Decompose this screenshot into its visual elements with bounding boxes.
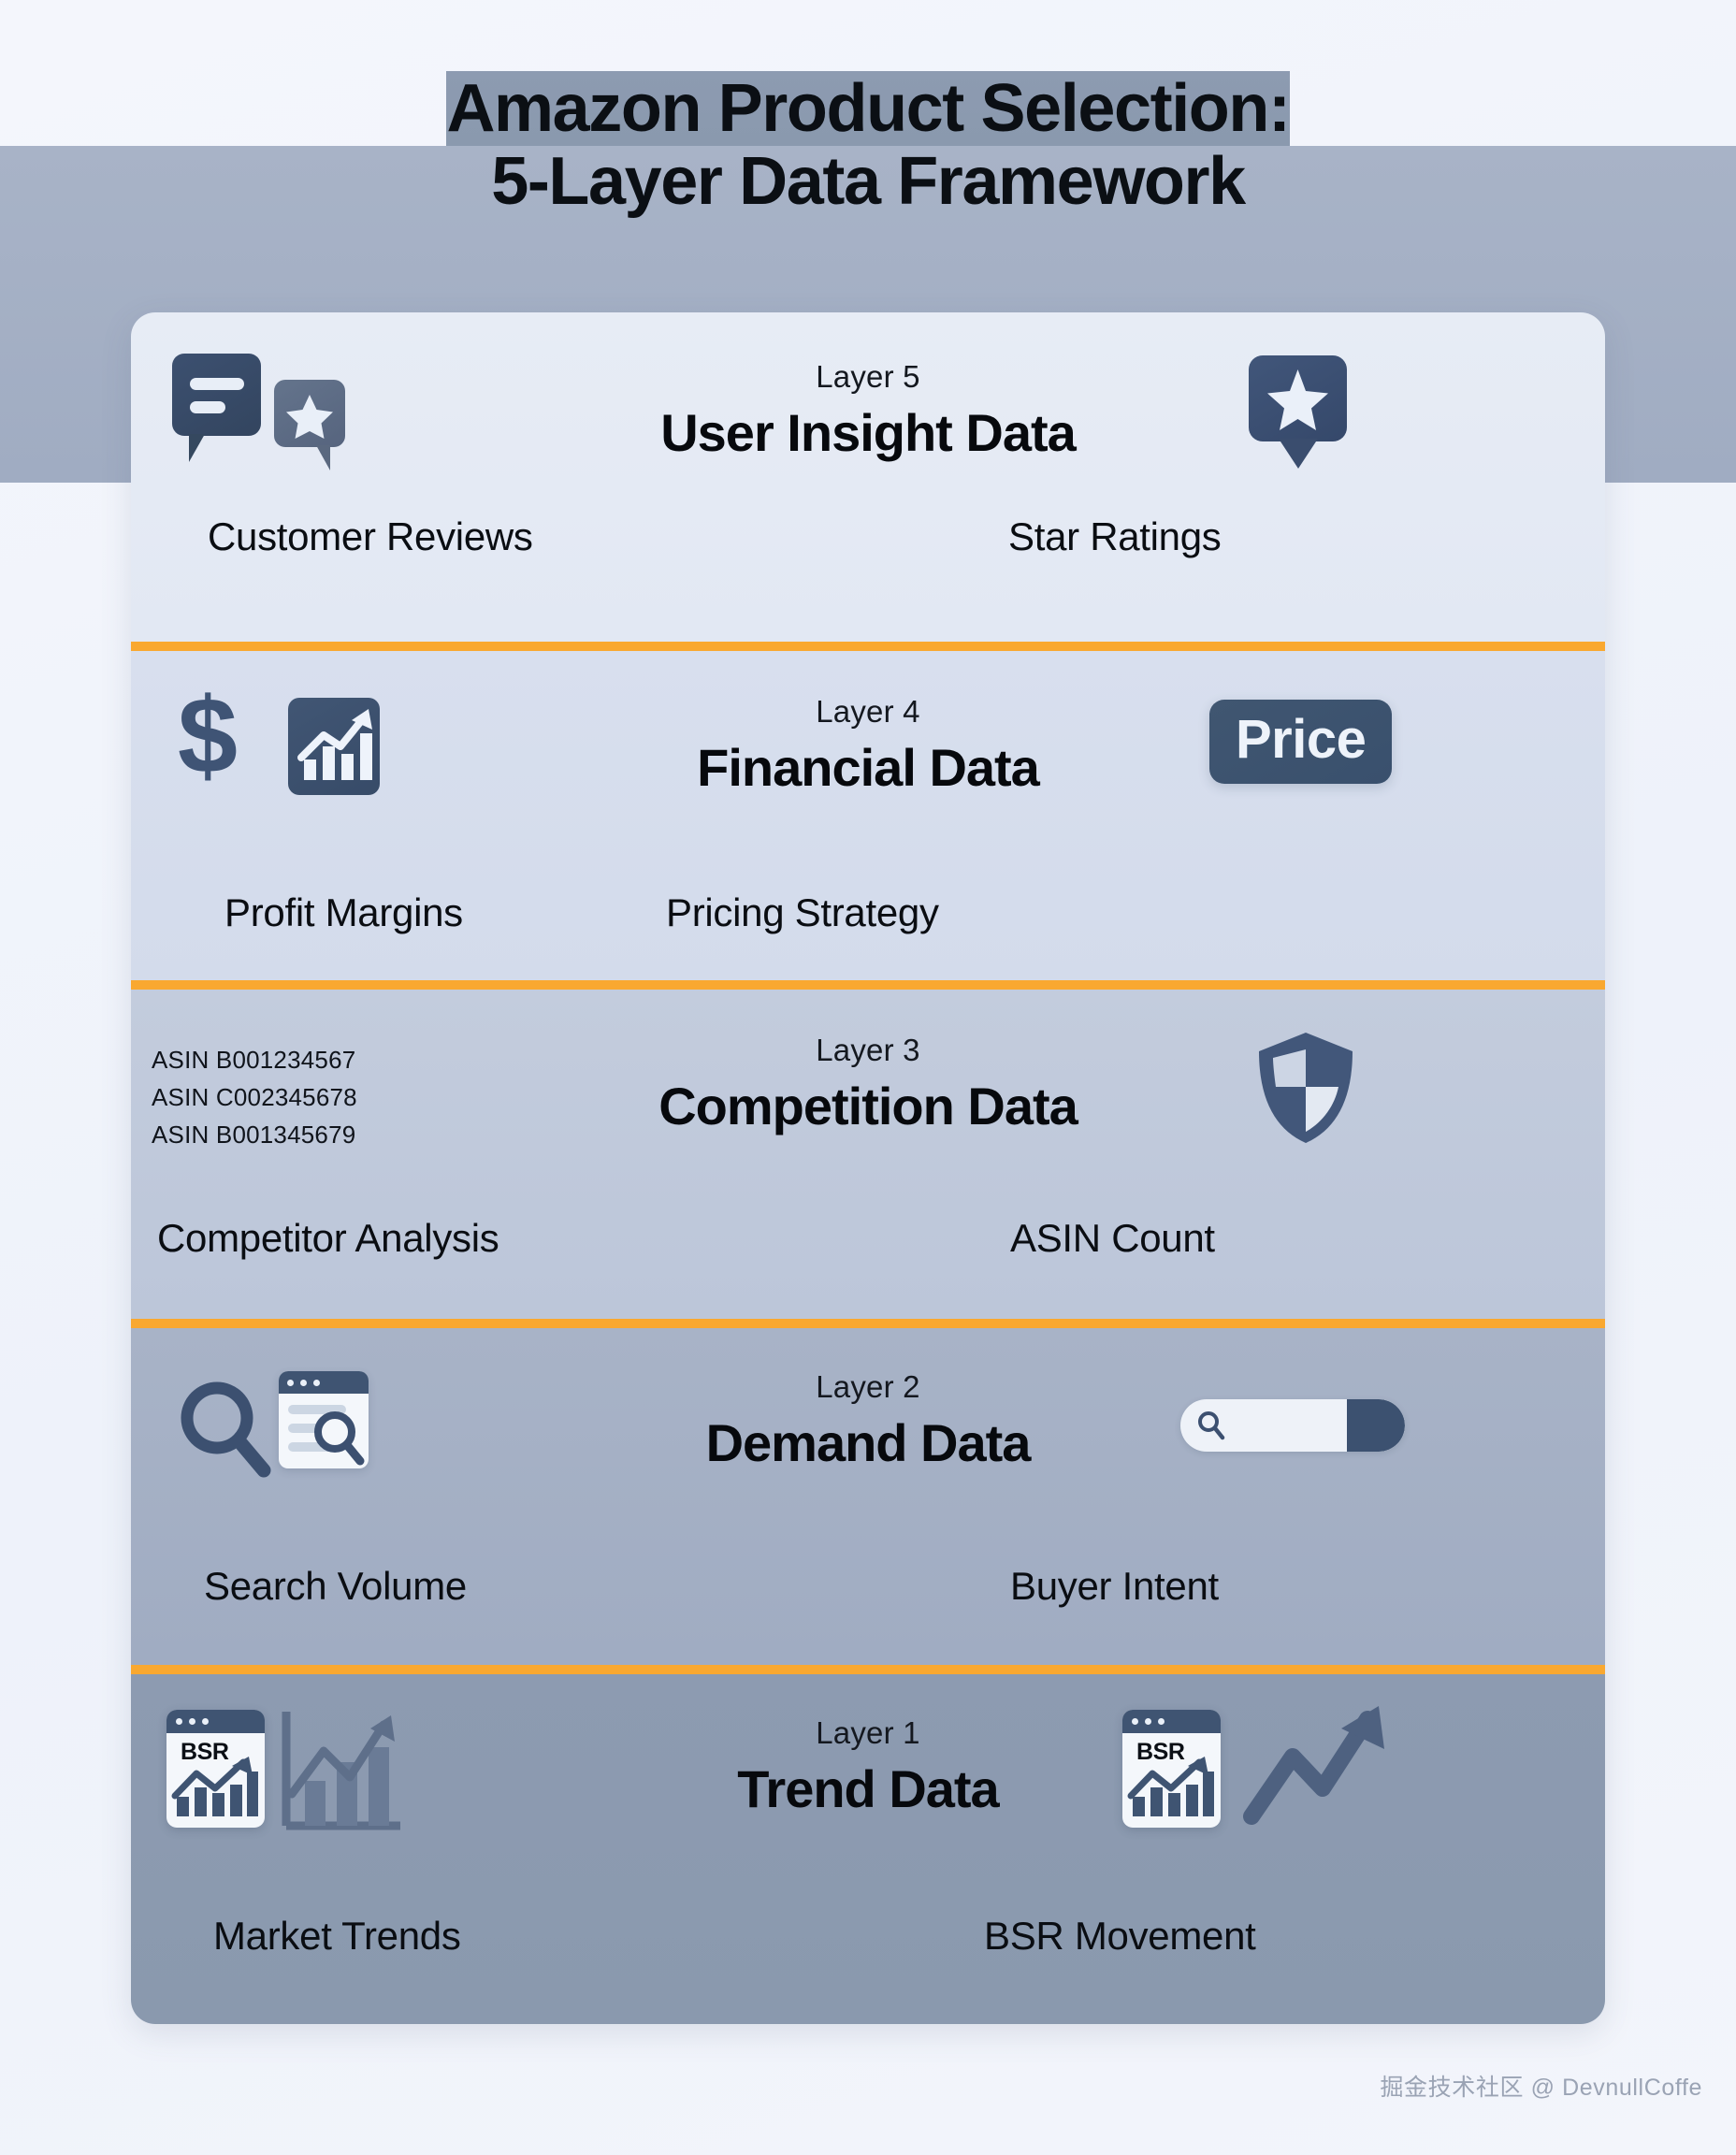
- layer3-right-caption: ASIN Count: [1010, 1216, 1215, 1261]
- watermark: 掘金技术社区 @ DevnullCoffe: [1380, 2069, 1702, 2103]
- layer5-left-caption: Customer Reviews: [208, 514, 533, 559]
- search-bar-icon[interactable]: [1180, 1399, 1405, 1452]
- layer2-browser-wrap: [279, 1371, 369, 1468]
- browser-dot: [287, 1380, 294, 1386]
- growth-arrow-icon: [1242, 1702, 1401, 1833]
- layer-3-competition-data[interactable]: ASIN B001234567 ASIN C002345678 ASIN B00…: [131, 990, 1605, 1319]
- layer5-heading-block: Layer 5 User Insight Data: [131, 361, 1605, 459]
- layer5-right-icon-group: [1249, 355, 1347, 441]
- layer4-chart-wrap: [288, 698, 380, 795]
- layer5-star-bubble-small: [274, 380, 345, 447]
- bar-chart-growth-icon: [288, 698, 380, 795]
- chat-line-1: [190, 378, 244, 390]
- layer-2-demand-data[interactable]: Layer 2 Demand Data Search Volume Buyer …: [131, 1328, 1605, 1665]
- layer5-right-caption: Star Ratings: [1008, 514, 1222, 559]
- layer-1-trend-data[interactable]: BSR: [131, 1674, 1605, 2024]
- bsr-chart-card-icon: BSR: [1122, 1710, 1221, 1828]
- layer1-left-bsr-wrap: BSR: [166, 1710, 265, 1828]
- layer2-searchbar-wrap[interactable]: [1180, 1399, 1405, 1452]
- card-dot: [176, 1718, 182, 1725]
- layer1-growth-chart-wrap: [279, 1704, 406, 1840]
- layer4-left-caption: Profit Margins: [224, 890, 463, 935]
- browser-titlebar: [279, 1371, 369, 1394]
- layer5-left-icon-group: [172, 354, 261, 436]
- divider-2-1: [131, 1665, 1605, 1674]
- layer4-dollar-wrap: $: [178, 688, 238, 786]
- layer4-price-wrap: Price: [1209, 700, 1392, 784]
- magnifier-icon: [176, 1377, 273, 1482]
- divider-5-4: [131, 642, 1605, 651]
- star-bubble-icon: [1249, 355, 1347, 441]
- layer1-right-bsr-wrap: BSR: [1122, 1710, 1221, 1828]
- layer-number: Layer 5: [131, 361, 1605, 392]
- layer-4-financial-data[interactable]: $ Price Layer 4: [131, 651, 1605, 980]
- layer2-magnifier-wrap: [176, 1377, 273, 1486]
- layer1-right-caption: BSR Movement: [984, 1914, 1256, 1959]
- price-badge: Price: [1209, 700, 1392, 784]
- infographic-page: Amazon Product Selection: 5-Layer Data F…: [0, 0, 1736, 2155]
- card-titlebar: [166, 1710, 265, 1733]
- browser-dot: [313, 1380, 320, 1386]
- card-dot: [1158, 1718, 1165, 1725]
- search-bar-submit[interactable]: [1347, 1399, 1405, 1452]
- card-dot: [1132, 1718, 1138, 1725]
- card-titlebar: [1122, 1710, 1221, 1733]
- layer-title: User Insight Data: [131, 407, 1605, 459]
- layer3-shield-wrap: [1253, 1029, 1358, 1151]
- asin-code-list: ASIN B001234567 ASIN C002345678 ASIN B00…: [152, 1042, 357, 1153]
- star-glyph: [1249, 355, 1347, 441]
- growth-chart-icon: [279, 1704, 406, 1835]
- chart-glyph: [288, 698, 380, 795]
- layer4-right-caption: Pricing Strategy: [666, 890, 939, 935]
- shield-icon: [1253, 1029, 1358, 1147]
- chat-bubble-icon: [172, 354, 261, 436]
- chat-line-2: [190, 401, 225, 413]
- divider-4-3: [131, 980, 1605, 990]
- bsr-chart-card-icon: BSR: [166, 1710, 265, 1828]
- star-bubble-icon: [274, 380, 345, 447]
- layer2-left-caption: Search Volume: [204, 1564, 467, 1609]
- browser-magnifier-icon: [311, 1409, 367, 1467]
- layer1-growth-arrow-wrap: [1242, 1702, 1401, 1838]
- dollar-sign-icon: $: [178, 688, 238, 786]
- bsr-chart-glyph: [1122, 1757, 1221, 1822]
- browser-dot: [300, 1380, 307, 1386]
- page-title-line1: Amazon Product Selection:: [446, 71, 1289, 146]
- layer3-left-caption: Competitor Analysis: [157, 1216, 499, 1261]
- asin-code-row: ASIN B001345679: [152, 1117, 357, 1154]
- star-bubble-tail: [316, 445, 330, 470]
- layer2-right-caption: Buyer Intent: [1010, 1564, 1219, 1609]
- layer-5-user-insight-data[interactable]: Layer 5 User Insight Data Customer Revie…: [131, 312, 1605, 642]
- search-icon: [1195, 1410, 1227, 1441]
- card-dot: [1145, 1718, 1151, 1725]
- card-dot: [202, 1718, 209, 1725]
- asin-code-row: ASIN B001234567: [152, 1042, 357, 1079]
- star-glyph: [274, 380, 345, 447]
- layer1-left-caption: Market Trends: [213, 1914, 461, 1959]
- bsr-chart-glyph: [166, 1757, 265, 1822]
- chat-bubble-tail: [189, 434, 205, 462]
- browser-search-icon: [279, 1371, 369, 1468]
- card-dot: [189, 1718, 195, 1725]
- asin-code-row: ASIN C002345678: [152, 1079, 357, 1117]
- star-bubble-tail: [1279, 439, 1318, 469]
- divider-3-2: [131, 1319, 1605, 1328]
- layer-stack: Layer 5 User Insight Data Customer Revie…: [131, 312, 1605, 2024]
